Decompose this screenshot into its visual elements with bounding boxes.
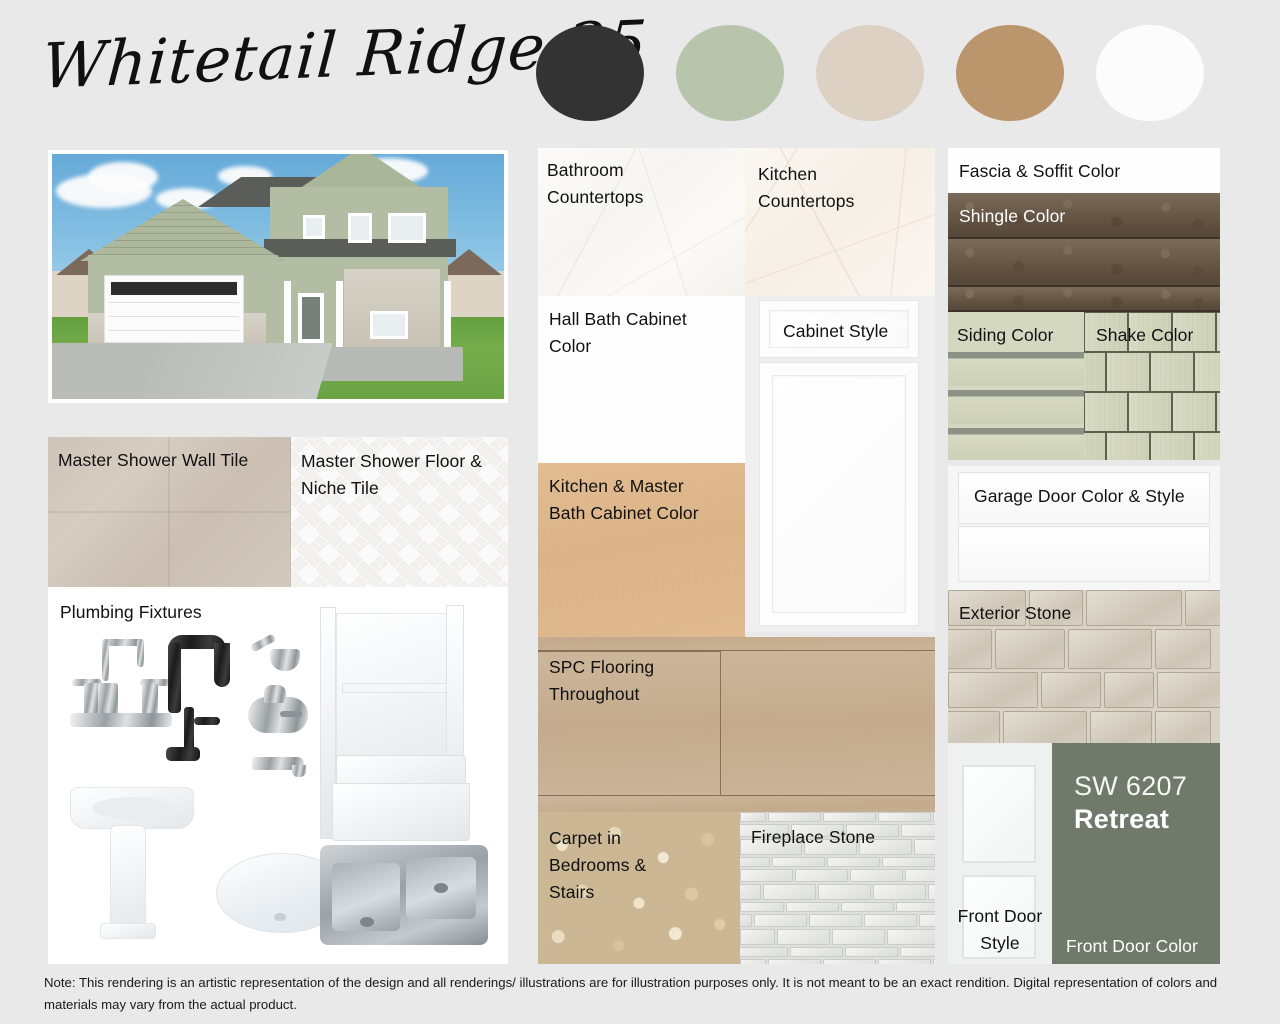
exterior-stone-label: Exterior Stone xyxy=(959,600,1071,627)
garage-door-label: Garage Door Color & Style xyxy=(974,483,1185,510)
shingle-color-sample: Shingle Color xyxy=(948,193,1220,312)
camel-tan-swatch xyxy=(956,25,1064,121)
siding-color-sample: Siding Color xyxy=(948,312,1084,460)
exterior-rendering-image xyxy=(48,150,508,403)
master-shower-floor-tile-sample: Master Shower Floor & Niche Tile xyxy=(291,437,508,587)
hall-bath-cabinet-color-sample: Hall Bath Cabinet Color xyxy=(538,296,745,463)
kitchen-master-bath-cabinet-color-label: Kitchen & Master Bath Cabinet Color xyxy=(549,473,699,527)
master-shower-wall-tile-sample: Master Shower Wall Tile xyxy=(48,437,291,587)
exterior-stone-sample: Exterior Stone xyxy=(948,590,1220,743)
fascia-soffit-color-label: Fascia & Soffit Color xyxy=(959,158,1120,185)
bathroom-countertops-sample: Bathroom Countertops xyxy=(538,148,745,296)
shingle-color-label: Shingle Color xyxy=(959,203,1065,230)
shake-color-label: Shake Color xyxy=(1096,322,1193,349)
plumbing-fixtures-label: Plumbing Fixtures xyxy=(60,599,202,626)
garage-door-sample: Garage Door Color & Style xyxy=(948,466,1220,590)
plumbing-fixtures-panel: Plumbing Fixtures xyxy=(48,587,508,964)
kitchen-countertops-sample: Kitchen Countertops xyxy=(745,148,935,296)
fascia-soffit-color-sample: Fascia & Soffit Color xyxy=(948,148,1220,193)
sage-green-swatch xyxy=(676,25,784,121)
front-door-style-label: Front Door Style xyxy=(948,903,1052,957)
kitchen-countertops-label: Kitchen Countertops xyxy=(758,161,854,215)
fireplace-stone-label: Fireplace Stone xyxy=(751,824,875,851)
charcoal-swatch xyxy=(536,25,644,121)
siding-color-label: Siding Color xyxy=(957,322,1054,349)
spc-flooring-sample: SPC Flooring Throughout xyxy=(538,637,935,812)
color-palette xyxy=(536,25,1204,121)
shake-color-sample: Shake Color xyxy=(1084,312,1220,460)
spc-flooring-label: SPC Flooring Throughout xyxy=(549,654,654,708)
carpet-label: Carpet in Bedrooms & Stairs xyxy=(549,825,646,906)
cabinet-style-sample: Cabinet Style xyxy=(745,296,935,632)
front-door-paint-name: Retreat xyxy=(1074,804,1169,835)
disclaimer-note: Note: This rendering is an artistic repr… xyxy=(44,972,1244,1016)
front-door-style-sample: Front Door Style xyxy=(948,743,1052,964)
master-shower-wall-tile-label: Master Shower Wall Tile xyxy=(58,447,248,474)
master-shower-floor-tile-label: Master Shower Floor & Niche Tile xyxy=(301,448,501,502)
front-door-color-label: Front Door Color xyxy=(1066,933,1198,960)
beige-swatch xyxy=(816,25,924,121)
carpet-sample: Carpet in Bedrooms & Stairs xyxy=(538,812,740,964)
white-swatch xyxy=(1096,25,1204,121)
front-door-paint-code: SW 6207 xyxy=(1074,771,1187,802)
kitchen-master-bath-cabinet-color-sample: Kitchen & Master Bath Cabinet Color xyxy=(538,463,745,637)
fireplace-stone-sample: Fireplace Stone xyxy=(740,812,935,964)
cabinet-style-label: Cabinet Style xyxy=(783,318,888,345)
board-header: Whitetail Ridge 25 xyxy=(0,0,1280,140)
bathroom-countertops-label: Bathroom Countertops xyxy=(547,157,643,211)
front-door-color-sample: SW 6207 Retreat Front Door Color xyxy=(1052,743,1220,964)
hall-bath-cabinet-color-label: Hall Bath Cabinet Color xyxy=(549,306,687,360)
